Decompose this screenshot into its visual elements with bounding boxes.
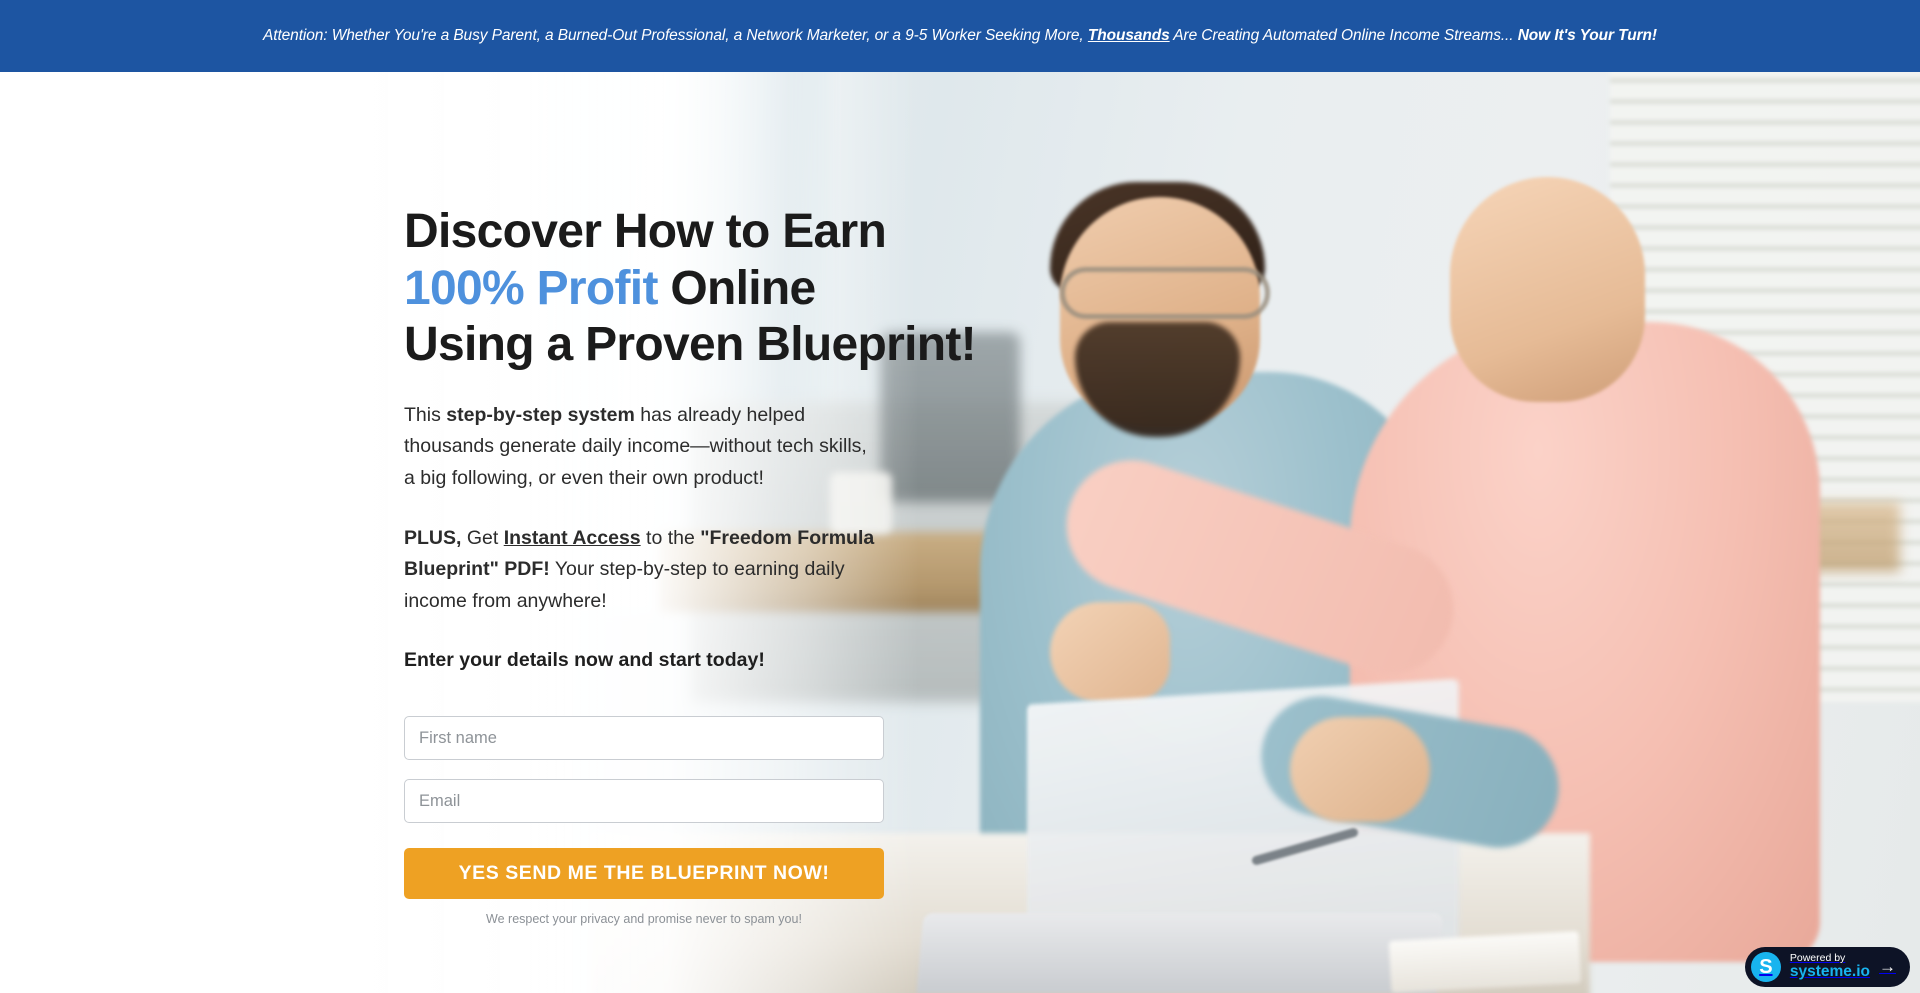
optin-form: YES SEND ME THE BLUEPRINT NOW! We respec… — [404, 716, 884, 926]
photo-notebook — [1389, 931, 1581, 993]
paragraph-2-part-1: Get — [461, 527, 503, 549]
arrow-right-icon: → — [1879, 957, 1896, 977]
paragraph-1-bold: step-by-step system — [446, 404, 635, 426]
photo-man-glasses — [1060, 267, 1270, 319]
paragraph-2-part-2: to the — [641, 527, 701, 549]
hero-paragraph-1: This step-by-step system has already hel… — [404, 400, 876, 495]
hero-section: Discover How to Earn 100% Profit Online … — [0, 72, 1920, 993]
photo-man-hand — [1290, 717, 1430, 822]
email-input[interactable] — [404, 779, 884, 823]
systeme-logo-icon: S — [1751, 952, 1781, 982]
headline-accent: 100% Profit — [404, 262, 658, 315]
hero-paragraph-2: PLUS, Get Instant Access to the "Freedom… — [404, 523, 882, 618]
headline-line-3: Using a Proven Blueprint! — [404, 318, 976, 371]
headline-line-2-rest: Online — [670, 262, 815, 315]
hero-copy-column: Discover How to Earn 100% Profit Online … — [404, 204, 1024, 926]
photo-woman-hand — [1050, 602, 1170, 702]
instant-access-link[interactable]: Instant Access — [504, 527, 641, 549]
announcement-bar: Attention: Whether You're a Busy Parent,… — [0, 0, 1920, 72]
page-title: Discover How to Earn 100% Profit Online … — [404, 204, 1024, 374]
first-name-input[interactable] — [404, 716, 884, 760]
hero-left-margin — [0, 72, 362, 993]
powered-by-systeme-badge[interactable]: S Powered by systeme.io → — [1745, 947, 1910, 987]
privacy-note: We respect your privacy and promise neve… — [404, 912, 884, 926]
announcement-suffix: Now It's Your Turn! — [1518, 27, 1657, 44]
form-lead-in-text: Enter your details now and start today! — [404, 649, 1024, 672]
paragraph-1-part-1: This — [404, 404, 446, 426]
photo-woman-head — [1450, 177, 1645, 402]
paragraph-2-plus: PLUS, — [404, 527, 461, 549]
badge-text: Powered by systeme.io — [1790, 953, 1870, 980]
announcement-text: Attention: Whether You're a Busy Parent,… — [263, 27, 1657, 45]
badge-brand-name: systeme.io — [1790, 964, 1870, 980]
announcement-emphasis: Thousands — [1088, 27, 1170, 44]
submit-button[interactable]: YES SEND ME THE BLUEPRINT NOW! — [404, 848, 884, 899]
headline-line-1: Discover How to Earn — [404, 205, 886, 258]
announcement-middle: Are Creating Automated Online Income Str… — [1173, 27, 1513, 44]
announcement-prefix: Attention: Whether You're a Busy Parent,… — [263, 27, 1084, 44]
